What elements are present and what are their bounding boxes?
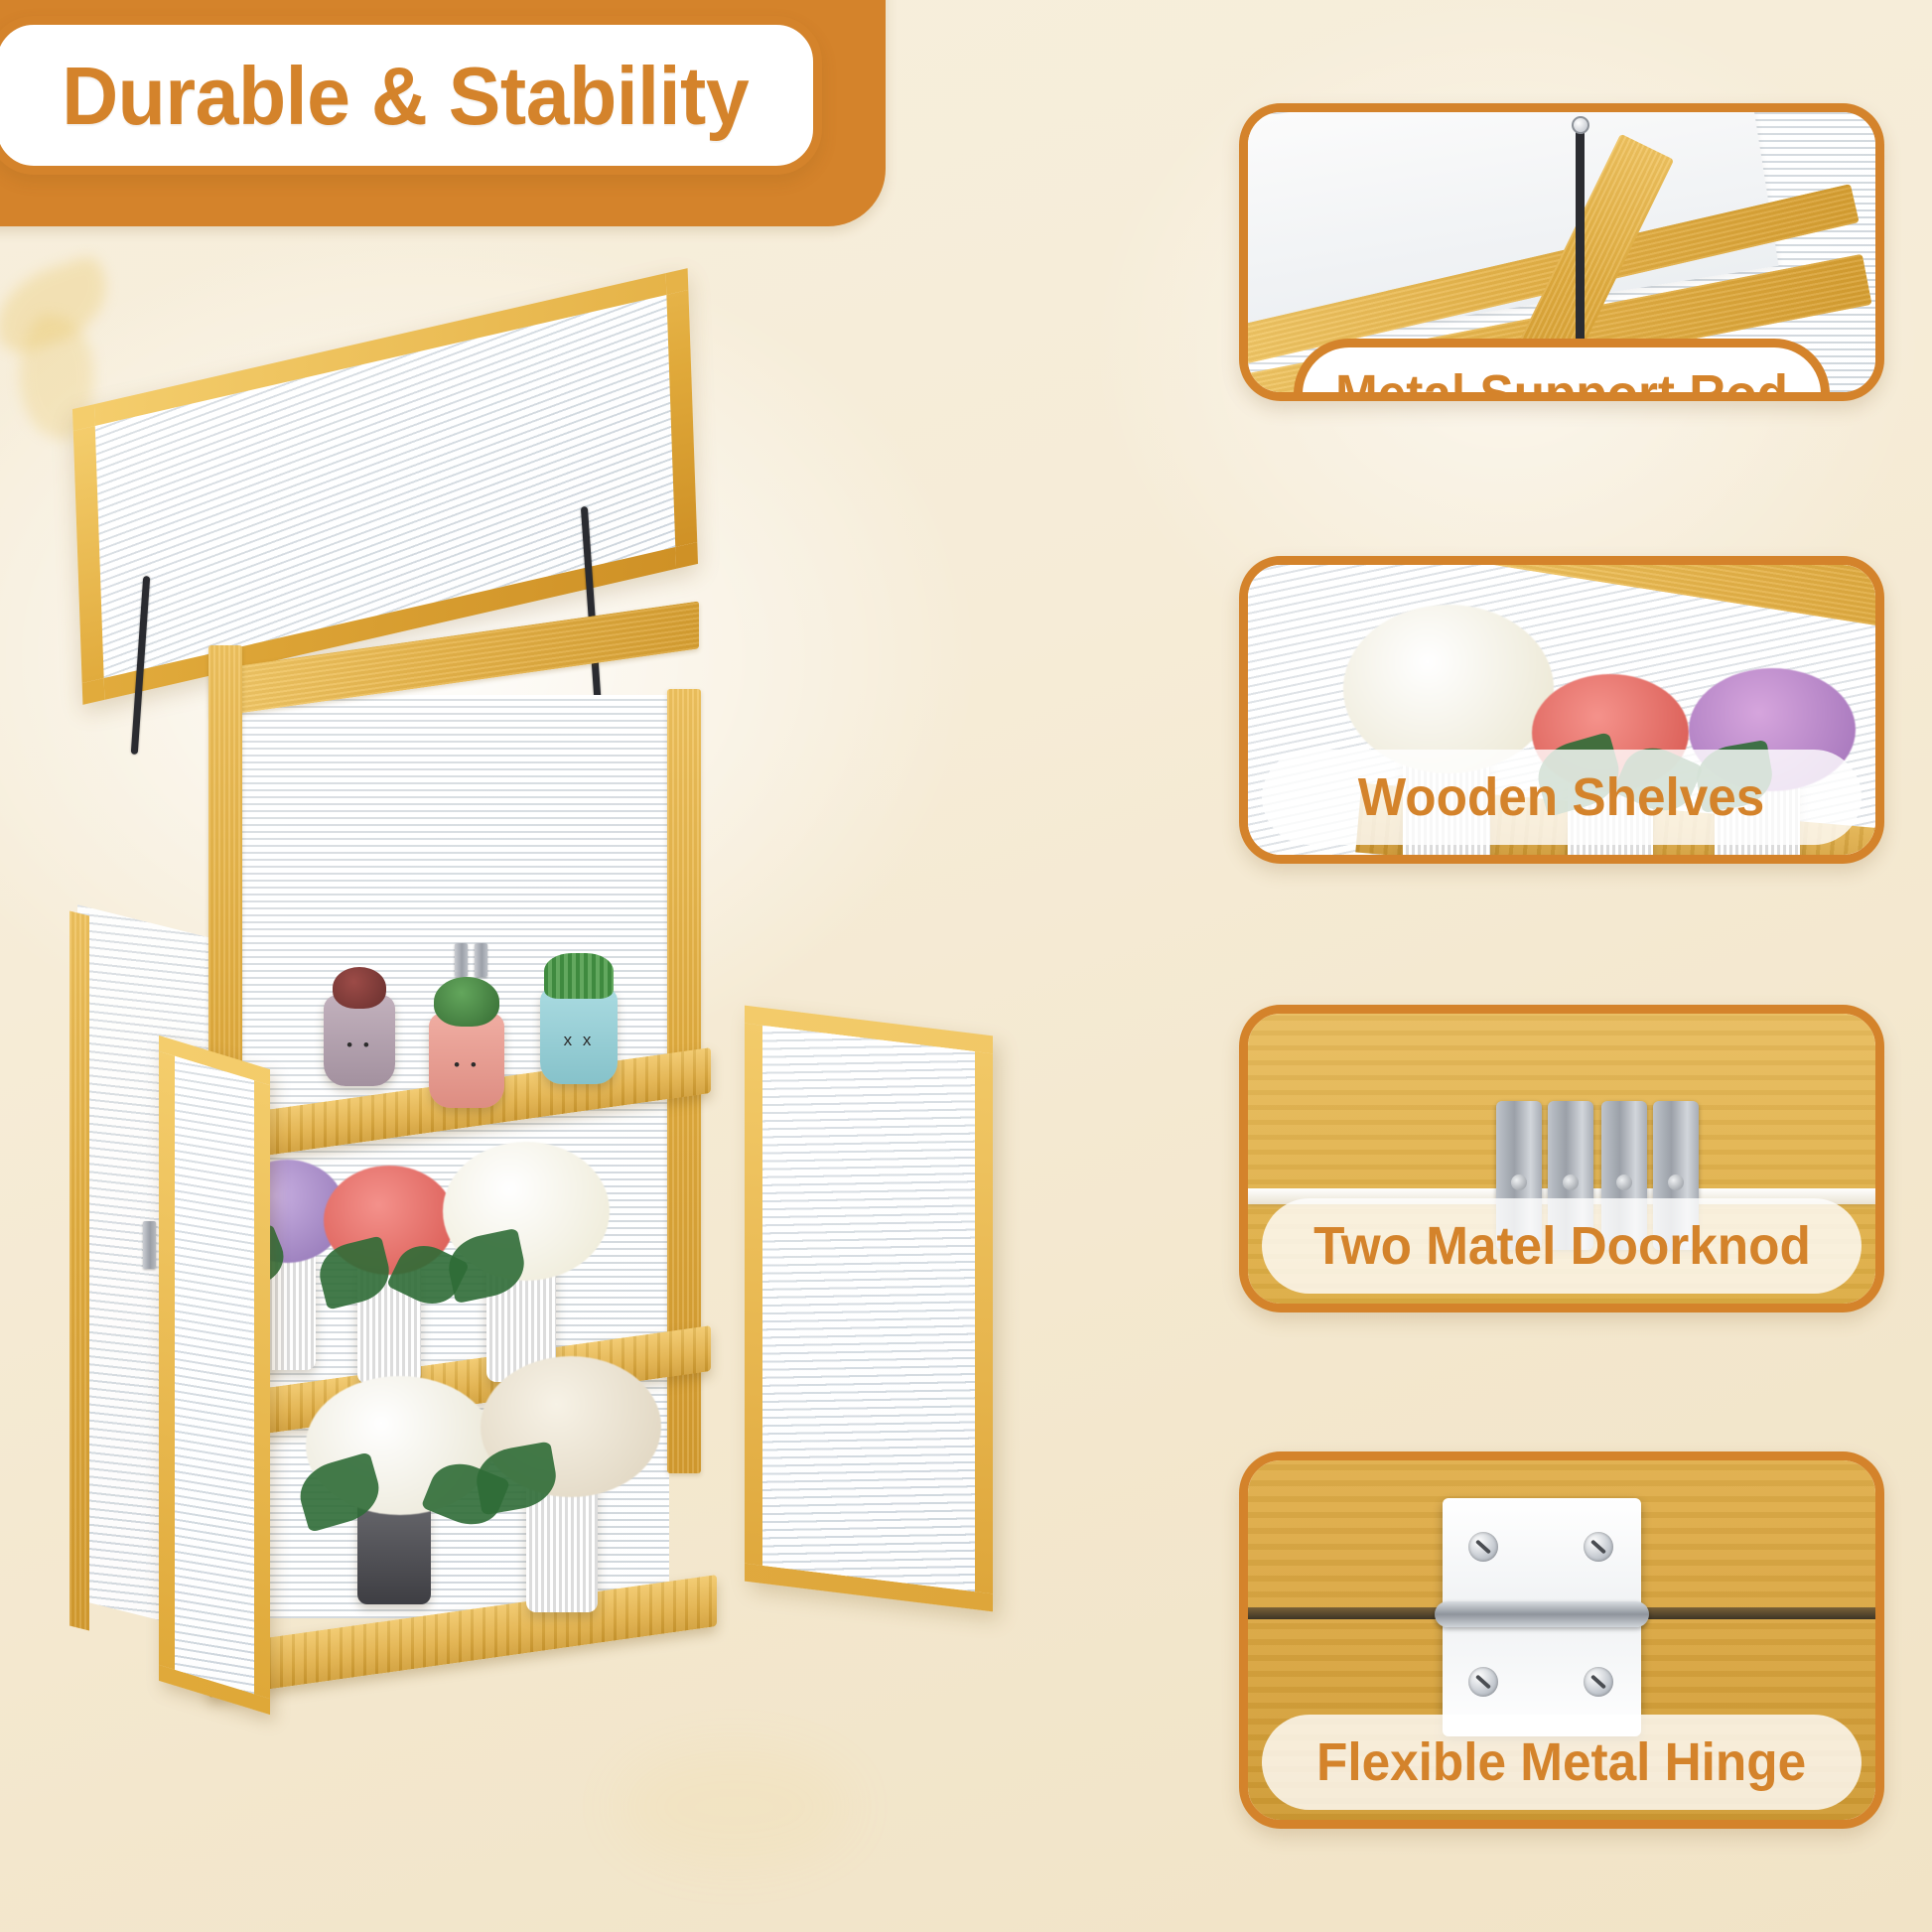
hinge-barrel-icon [1435, 1601, 1649, 1627]
screw-icon [1563, 1174, 1579, 1190]
greenhouse-body: • • • • x x [60, 625, 755, 1469]
screw-icon [1616, 1174, 1632, 1190]
pot-face-icon: x x [540, 1032, 618, 1048]
shelf-hinge-icon [455, 943, 468, 977]
screw-icon [1584, 1532, 1613, 1562]
left-side-post [69, 911, 89, 1631]
feature-panel-wooden-shelves[interactable]: Wooden Shelves [1239, 556, 1884, 864]
feature-label-badge: Flexible Metal Hinge [1262, 1715, 1862, 1810]
feature-label-badge: Two Matel Doorknod [1262, 1198, 1862, 1294]
list-item: • • [429, 1013, 504, 1108]
infographic-page: Durable & Stability [0, 0, 1932, 1932]
header-banner: Durable & Stability [0, 0, 886, 226]
right-door-panel [762, 1026, 975, 1591]
screw-icon [1668, 1174, 1684, 1190]
screw-icon [1511, 1174, 1527, 1190]
feature-panel-flexible-metal-hinge[interactable]: Flexible Metal Hinge [1239, 1451, 1884, 1829]
screw-icon [1468, 1667, 1498, 1697]
shelf-hinge-icon [475, 943, 487, 977]
glow-decor-icon [616, 1747, 854, 1866]
left-door-panel [175, 1056, 254, 1694]
door-hinge-icon [143, 1221, 156, 1269]
right-door[interactable] [745, 1006, 993, 1612]
succulent-plant-icon [333, 967, 386, 1009]
list-item: • • [324, 995, 395, 1086]
screw-icon [1584, 1667, 1613, 1697]
feature-panel-two-matel-doorknod[interactable]: Two Matel Doorknod [1239, 1005, 1884, 1312]
list-item: x x [540, 987, 618, 1084]
page-title: Durable & Stability [62, 55, 749, 137]
screw-icon [1468, 1532, 1498, 1562]
feature-label-text: Wooden Shelves [1358, 770, 1765, 824]
screw-icon [1572, 116, 1589, 134]
feature-label-text: Metal Support Rod [1335, 367, 1788, 401]
left-door[interactable] [159, 1035, 270, 1715]
pot-face-icon: • • [324, 1036, 395, 1053]
feature-label-text: Two Matel Doorknod [1313, 1219, 1811, 1273]
cactus-plant-icon [544, 953, 614, 999]
feature-panel-metal-support-rod[interactable]: Metal Support Rod [1239, 103, 1884, 401]
product-illustration: • • • • x x [40, 328, 993, 1479]
header-plate: Durable & Stability [0, 16, 822, 175]
feature-label-badge: Metal Support Rod [1294, 339, 1830, 401]
feature-label-text: Flexible Metal Hinge [1316, 1735, 1806, 1789]
succulent-plant-icon [434, 977, 499, 1027]
pot-face-icon: • • [429, 1056, 504, 1073]
feature-label-badge: Wooden Shelves [1262, 750, 1862, 845]
hydrangea-bloom-icon [1343, 605, 1554, 773]
